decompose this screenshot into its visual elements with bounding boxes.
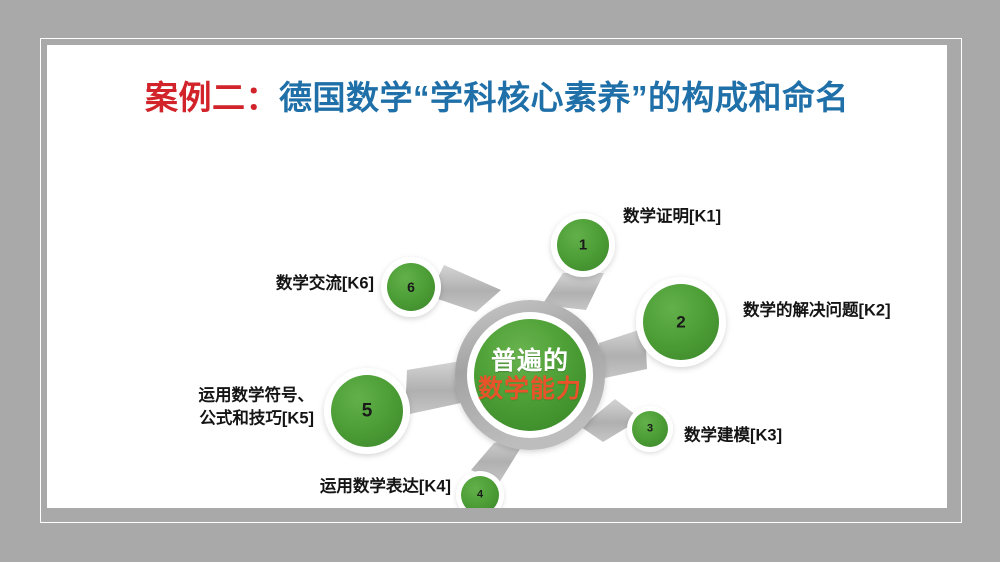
node-6[interactable]: [381, 257, 441, 317]
node-6-label: 数学交流[K6]: [276, 272, 374, 295]
node-3-label: 数学建模[K3]: [684, 424, 782, 447]
node-2[interactable]: [636, 277, 726, 367]
node-4-label: 运用数学表达[K4]: [320, 475, 451, 498]
node-3-disc: [632, 411, 668, 447]
hub-caption: 普遍的 数学能力: [478, 347, 582, 403]
node-2-disc: [643, 284, 719, 360]
diagram-graphics: [47, 45, 947, 508]
node-5[interactable]: [324, 368, 410, 454]
node-1-label: 数学证明[K1]: [623, 205, 721, 228]
node-5-label: 运用数学符号、 公式和技巧[K5]: [199, 385, 315, 432]
hub-caption-line-1: 普遍的: [478, 347, 582, 375]
node-2-label: 数学的解决问题[K2]: [743, 299, 891, 322]
spoke-to-node-5: [405, 361, 461, 415]
slide-canvas: 案例二：德国数学“学科核心素养”的构成和命名: [47, 45, 947, 508]
node-1-disc: [557, 219, 609, 271]
slide-root: 案例二：德国数学“学科核心素养”的构成和命名: [0, 0, 1000, 562]
node-3[interactable]: [627, 406, 673, 452]
node-1[interactable]: [551, 213, 615, 277]
hub-and-spoke-diagram: 普遍的 数学能力 1 2 3 4 5 6 数学证明[K1] 数学的解决问题[K2…: [47, 45, 947, 508]
node-6-disc: [387, 263, 435, 311]
hub-caption-line-2: 数学能力: [478, 375, 582, 403]
node-5-disc: [331, 375, 403, 447]
